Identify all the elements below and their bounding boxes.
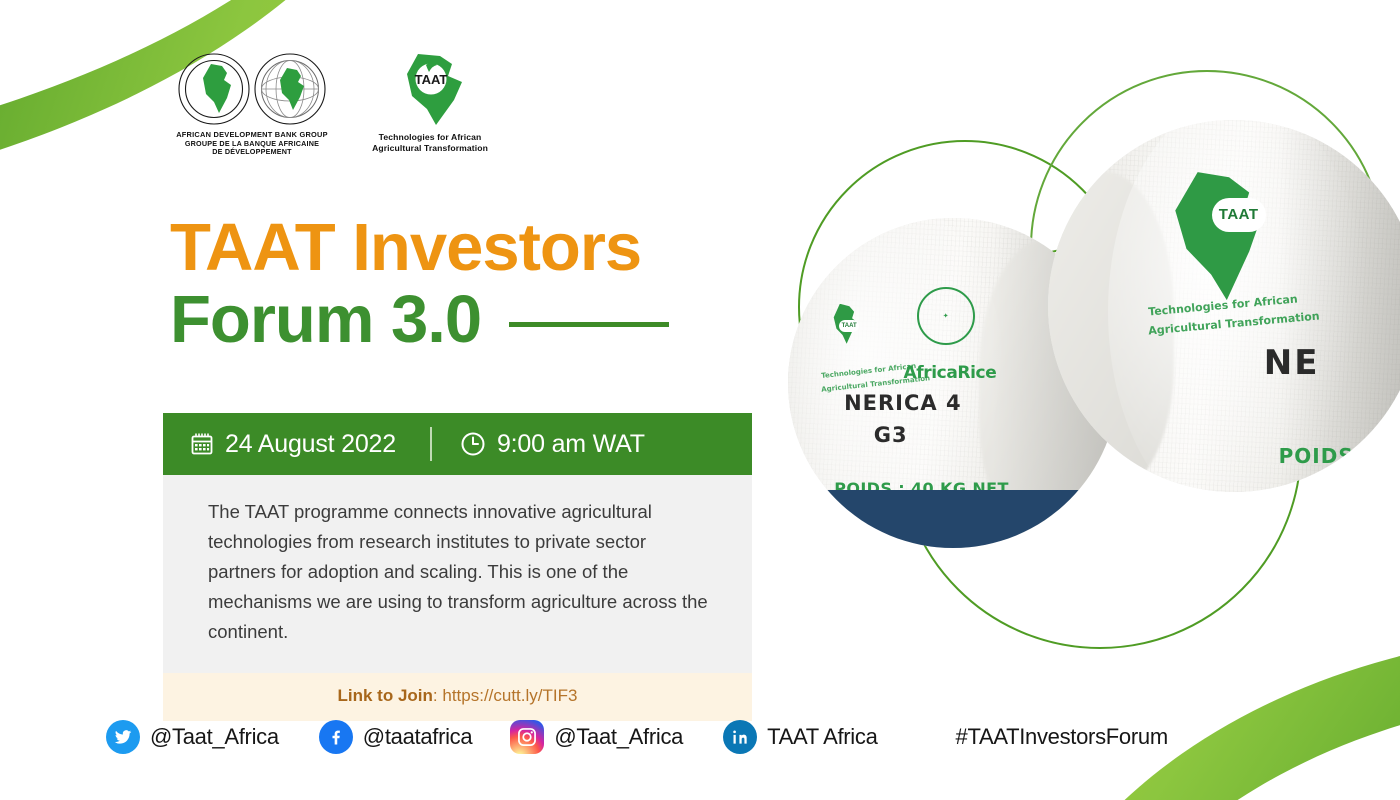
clock-icon	[460, 431, 486, 457]
event-description-text: The TAAT programme connects innovative a…	[208, 497, 712, 647]
facebook-handle: @taatafrica	[363, 724, 473, 750]
taat-africa-icon: TAAT	[382, 52, 478, 128]
event-time: 9:00 am WAT	[460, 430, 645, 459]
datetime-divider	[430, 427, 432, 461]
title-line-2: Forum 3.0	[170, 286, 481, 354]
bag-variety-label: NERICA 4	[844, 391, 962, 415]
twitter-icon[interactable]	[106, 720, 140, 754]
africarice-certification-stamp-icon: ✦	[917, 287, 975, 345]
photo-navy-band	[788, 490, 1118, 548]
social-item-linkedin[interactable]: TAAT Africa	[723, 720, 877, 754]
title-line-1: TAAT Investors	[170, 214, 669, 282]
event-description-block: The TAAT programme connects innovative a…	[163, 475, 752, 673]
join-link-separator: :	[433, 686, 442, 705]
afdb-caption: AFRICAN DEVELOPMENT BANK GROUP GROUPE DE…	[176, 131, 328, 157]
logo-row: AFRICAN DEVELOPMENT BANK GROUP GROUPE DE…	[168, 52, 498, 157]
bag-grade-label: G3	[874, 423, 908, 447]
afdb-logo: AFRICAN DEVELOPMENT BANK GROUP GROUPE DE…	[168, 52, 336, 157]
afdb-caption-line3: DE DÉVELOPPEMENT	[176, 148, 328, 156]
poster-canvas: TAAT Technologies for African Agricultur…	[0, 0, 1400, 800]
title-line-2-row: Forum 3.0	[170, 286, 669, 354]
event-date-text: 24 August 2022	[225, 430, 396, 459]
afdb-globe-seal-icon	[253, 52, 327, 126]
linkedin-handle: TAAT Africa	[767, 724, 877, 750]
social-item-twitter[interactable]: @Taat_Africa	[106, 720, 279, 754]
social-item-instagram[interactable]: @Taat_Africa	[510, 720, 683, 754]
afdb-africa-seal-icon	[177, 52, 251, 126]
taat-mark-text: TAAT	[415, 72, 448, 87]
calendar-icon	[190, 432, 214, 456]
taat-caption: Technologies for African Agricultural Tr…	[372, 132, 488, 154]
event-time-text: 9:00 am WAT	[497, 430, 645, 459]
linkedin-icon[interactable]	[723, 720, 757, 754]
title-underline-rule	[509, 322, 669, 327]
bag-weight-label: POIDS	[1279, 444, 1354, 468]
taat-mark-label: TAAT	[839, 320, 859, 332]
photo-composition: TAAT Technologies for African Agricultur…	[780, 0, 1400, 800]
bag-brand-label: AfricaRice	[904, 363, 997, 383]
instagram-icon[interactable]	[510, 720, 544, 754]
taat-caption-line2: Agricultural Transformation	[372, 143, 488, 154]
facebook-icon[interactable]	[319, 720, 353, 754]
photo-right-rice-sack: TAAT Technologies for African Agricultur…	[1048, 120, 1400, 492]
event-hashtag: #TAATInvestorsForum	[956, 724, 1168, 750]
page-title: TAAT Investors Forum 3.0	[170, 214, 669, 355]
join-link-url[interactable]: https://cutt.ly/TIF3	[442, 686, 577, 705]
instagram-handle: @Taat_Africa	[554, 724, 683, 750]
taat-caption-line1: Technologies for African	[372, 132, 488, 143]
sack-shadow	[1279, 120, 1400, 492]
social-item-facebook[interactable]: @taatafrica	[319, 720, 473, 754]
afdb-emblems	[177, 52, 327, 126]
bag-variety-label: NE	[1264, 343, 1320, 383]
event-info-card: 24 August 2022 9:00 am WAT The TAAT prog…	[163, 413, 752, 721]
twitter-handle: @Taat_Africa	[150, 724, 279, 750]
social-row: @Taat_Africa @taatafrica @Taat_Africa	[106, 720, 1168, 754]
join-link-bar[interactable]: Link to Join: https://cutt.ly/TIF3	[163, 673, 752, 721]
event-datetime-bar: 24 August 2022 9:00 am WAT	[163, 413, 752, 475]
taat-mark-label: TAAT	[1212, 198, 1266, 232]
taat-logo: TAAT Technologies for African Agricultur…	[362, 52, 498, 154]
event-date: 24 August 2022	[163, 430, 396, 459]
join-link-label: Link to Join	[338, 686, 433, 705]
